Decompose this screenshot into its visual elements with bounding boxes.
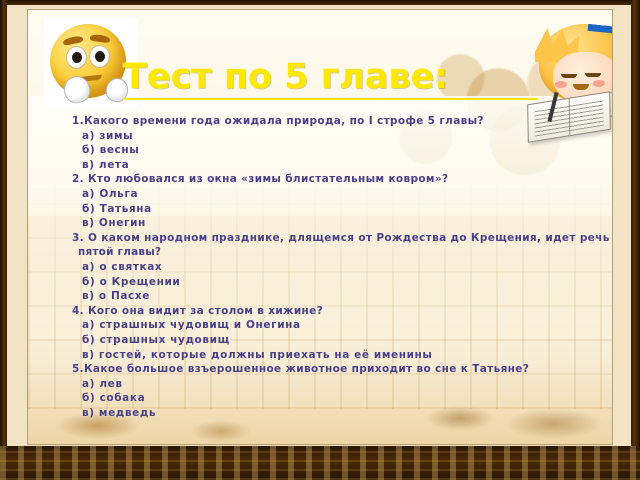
page-title: Тест по 5 главе: xyxy=(123,57,448,97)
girl-eye-right xyxy=(585,73,601,77)
emoji-pupil-right xyxy=(95,51,105,62)
question-1-option-a[interactable]: а) зимы xyxy=(72,129,602,144)
frame-left-edge xyxy=(0,0,7,480)
emoji-eyebrow-left xyxy=(62,35,83,46)
question-5-text: 5.Какое большое взъерошенное животное пр… xyxy=(72,362,602,377)
title-underline xyxy=(123,98,538,100)
question-4-option-a[interactable]: а) страшных чудовищ и Онегина xyxy=(72,318,602,333)
question-2-option-a[interactable]: а) Ольга xyxy=(72,187,602,202)
question-4-option-b[interactable]: б) страшных чудовищ xyxy=(72,333,602,348)
question-4-option-c[interactable]: в) гостей, которые должны приехать на её… xyxy=(72,348,602,363)
girl-cheek-right xyxy=(593,80,605,87)
emoji-pupil-left xyxy=(72,52,82,63)
question-3-option-b[interactable]: б) о Крещении xyxy=(72,275,602,290)
question-5-option-c[interactable]: в) медведь xyxy=(72,406,602,421)
question-3-option-a[interactable]: а) о святках xyxy=(72,260,602,275)
presentation-slide: Тест по 5 главе: 1.Какого времени года о… xyxy=(0,0,640,480)
frame-right-edge xyxy=(631,0,640,480)
emoji-eye-left xyxy=(66,46,87,69)
question-4-text: 4. Кого она видит за столом в хижине? xyxy=(72,304,602,319)
question-3-text: 3. О каком народном празднике, длящемся … xyxy=(72,231,602,246)
question-2-option-c[interactable]: в) Онегин xyxy=(72,216,602,231)
girl-cheek-left xyxy=(555,81,567,88)
question-5-option-a[interactable]: а) лев xyxy=(72,377,602,392)
question-2-text: 2. Кто любовался из окна «зимы блистател… xyxy=(72,172,602,187)
question-2-option-b[interactable]: б) Татьяна xyxy=(72,202,602,217)
emoji-eyebrow-right xyxy=(90,34,111,44)
question-5-option-b[interactable]: б) собака xyxy=(72,391,602,406)
question-3-text-continued: пятой главы? xyxy=(72,245,602,260)
girl-eye-left xyxy=(561,74,577,78)
frame-bottom-ornament xyxy=(0,446,640,480)
slide-canvas: Тест по 5 главе: 1.Какого времени года о… xyxy=(28,10,612,444)
quiz-body: 1.Какого времени года ожидала природа, п… xyxy=(72,114,602,420)
question-1-text: 1.Какого времени года ожидала природа, п… xyxy=(72,114,602,129)
question-1-option-b[interactable]: б) весны xyxy=(72,143,602,158)
question-3-option-c[interactable]: в) о Пасхе xyxy=(72,289,602,304)
emoji-eye-right xyxy=(89,45,110,68)
frame-top-edge xyxy=(0,0,640,5)
question-1-option-c[interactable]: в) лета xyxy=(72,158,602,173)
